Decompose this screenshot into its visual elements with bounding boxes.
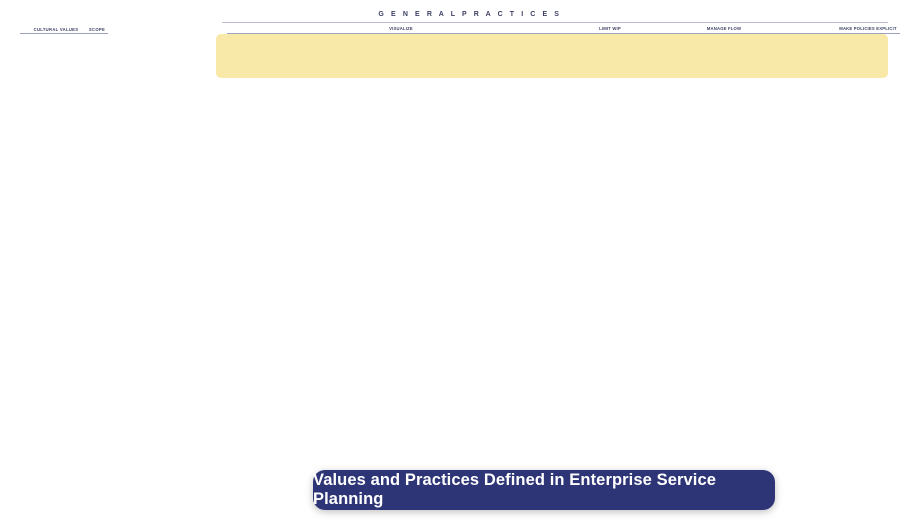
column-header-rule: [575, 33, 645, 34]
column-header-rule: [645, 33, 803, 34]
esp-banner: Values and Practices Defined in Enterpri…: [313, 470, 775, 510]
column-header-label: MAKE POLICIES EXPLICIT: [839, 26, 896, 31]
column-header-label: MANAGE FLOW: [707, 26, 741, 31]
column-header-manage-flow: MANAGE FLOW: [645, 26, 803, 34]
scope-header: SCOPE: [86, 27, 108, 32]
column-header-visualize: VISUALIZE: [227, 26, 575, 34]
column-header-label: LIMIT WIP: [599, 26, 621, 31]
column-header-make-policies-explicit: MAKE POLICIES EXPLICIT: [803, 26, 900, 34]
cultural-values-divider: [20, 33, 108, 34]
kmm-poster: G E N E R A L P R A C T I C E S VISUALIZ…: [0, 0, 900, 521]
maturity-band-0: [216, 34, 888, 78]
column-header-rule: [227, 33, 575, 34]
general-practices-title: G E N E R A L P R A C T I C E S: [378, 11, 561, 18]
header-divider: [222, 22, 888, 23]
maturity-level-panel: [108, 0, 216, 521]
column-header-rule: [803, 33, 900, 34]
esp-banner-label: Values and Practices Defined in Enterpri…: [313, 471, 775, 509]
cultural-values-header: CULTURAL VALUES: [22, 27, 90, 32]
column-header-limit-wip: LIMIT WIP: [575, 26, 645, 34]
column-header-label: VISUALIZE: [389, 26, 413, 31]
